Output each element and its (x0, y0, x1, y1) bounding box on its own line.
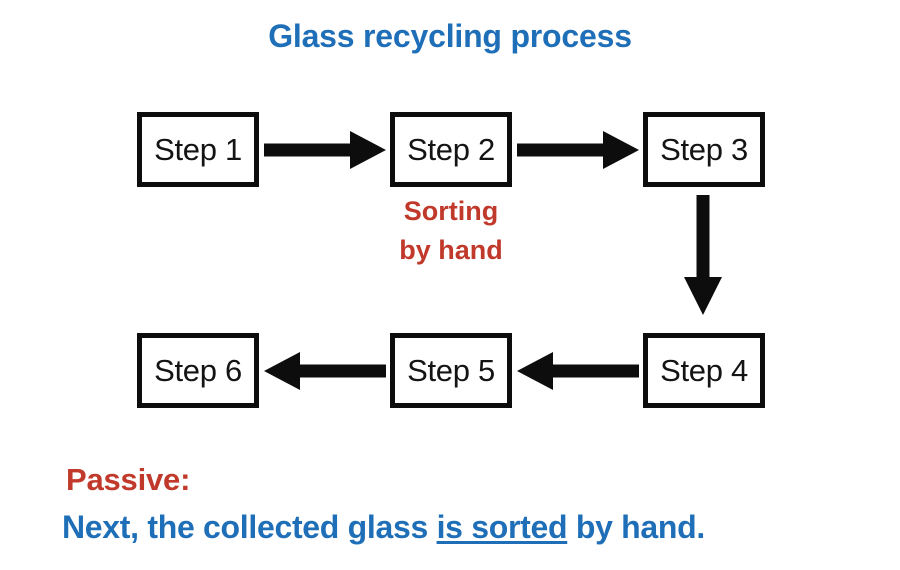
step-box-step-4: Step 4 (643, 333, 765, 408)
arrow-left-icon (264, 351, 386, 391)
arrow-right-icon (517, 130, 639, 170)
step-box-label: Step 6 (154, 355, 242, 386)
step-box-step-2: Step 2 (390, 112, 512, 187)
sentence-after: by hand. (567, 509, 705, 545)
step-box-label: Step 5 (407, 355, 495, 386)
arrow-right-icon (264, 130, 386, 170)
step-box-step-1: Step 1 (137, 112, 259, 187)
caption-example-sentence: Next, the collected glass is sorted by h… (62, 509, 705, 546)
step-box-step-3: Step 3 (643, 112, 765, 187)
step-box-label: Step 2 (407, 134, 495, 165)
step-box-label: Step 1 (154, 134, 242, 165)
sentence-before: Next, the collected glass (62, 509, 437, 545)
step-box-label: Step 3 (660, 134, 748, 165)
annotation-sorting-by-hand: Sorting by hand (380, 192, 522, 270)
sentence-underlined-passive-verb: is sorted (437, 509, 568, 545)
slide-canvas: Glass recycling process Step 1 Step 2 St… (0, 0, 900, 570)
annotation-line-1: Sorting (380, 192, 522, 231)
step-box-label: Step 4 (660, 355, 748, 386)
arrow-down-icon (682, 195, 724, 315)
annotation-line-2: by hand (380, 231, 522, 270)
step-box-step-5: Step 5 (390, 333, 512, 408)
page-title: Glass recycling process (0, 18, 900, 55)
arrow-left-icon (517, 351, 639, 391)
caption-passive-label: Passive: (66, 462, 190, 498)
step-box-step-6: Step 6 (137, 333, 259, 408)
